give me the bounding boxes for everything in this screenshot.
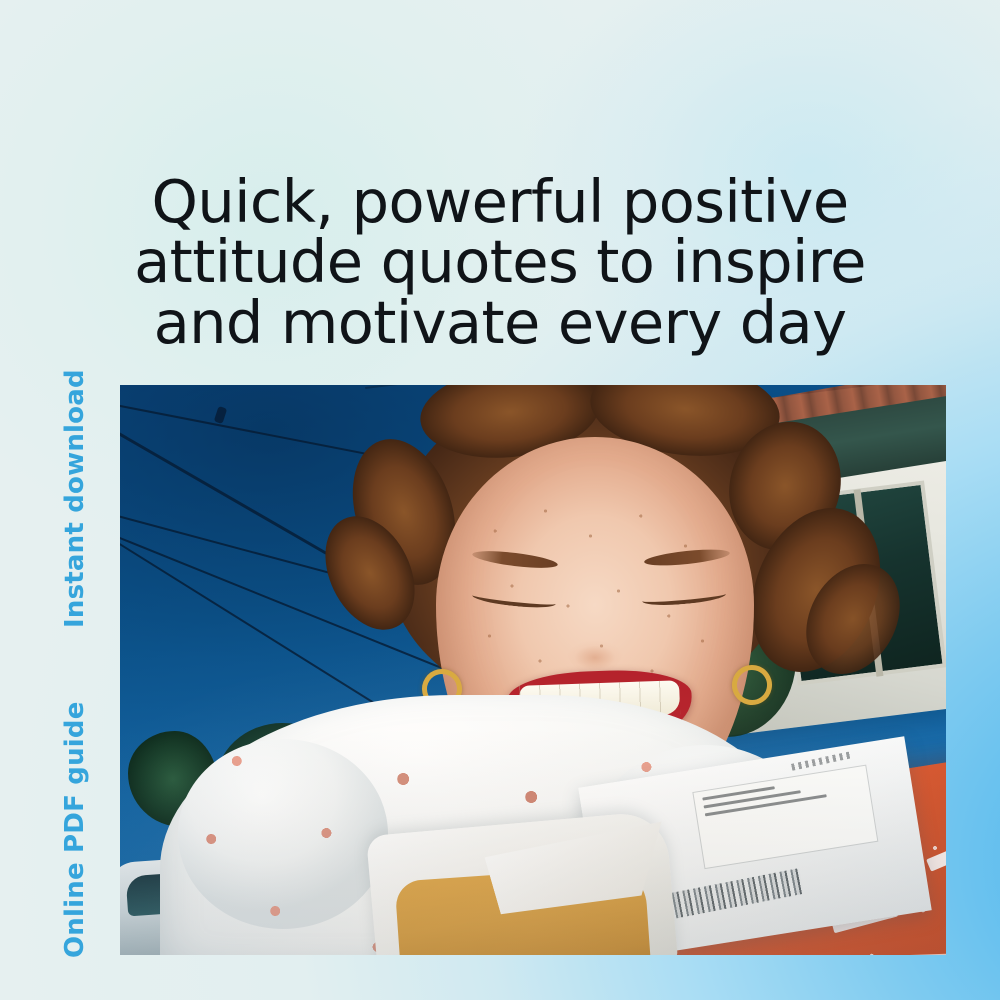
side-label-instant-download: Instant download [60, 369, 90, 628]
shipping-label [692, 765, 878, 870]
hero-photo [120, 385, 946, 955]
nose [566, 617, 624, 675]
promo-card: Quick, powerful positive attitude quotes… [0, 0, 1000, 1000]
barcode [671, 868, 804, 918]
side-label-online-pdf-guide: Online PDF guide [60, 701, 90, 958]
page-title: Quick, powerful positive attitude quotes… [0, 172, 1000, 354]
